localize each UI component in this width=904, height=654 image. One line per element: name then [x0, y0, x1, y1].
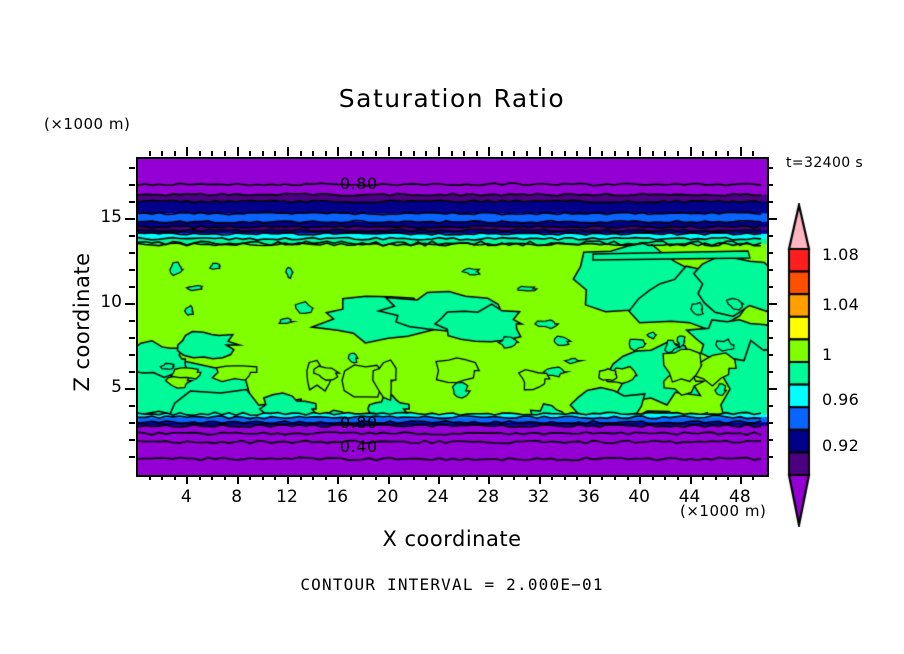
- x-major-tick-top: [740, 147, 742, 156]
- x-minor-tick-top: [727, 151, 729, 156]
- x-major-tick-top: [639, 147, 641, 156]
- y-minor-tick: [129, 405, 135, 407]
- x-minor-tick-top: [312, 151, 314, 156]
- colorbar-tick-label: 0.96: [822, 390, 859, 409]
- y-minor-tick: [129, 456, 135, 458]
- x-minor-tick-top: [715, 151, 717, 156]
- x-tick-label: 12: [257, 487, 317, 507]
- x-minor-tick-top: [752, 151, 754, 156]
- x-minor-tick-top: [614, 151, 616, 156]
- y-major-tick: [125, 303, 135, 305]
- x-major-tick-top: [438, 147, 440, 156]
- x-minor-tick-top: [350, 151, 352, 156]
- x-axis-title: X coordinate: [0, 527, 904, 551]
- x-minor-tick-top: [601, 151, 603, 156]
- contour-field-canvas: [138, 159, 767, 475]
- colorbar-tick-label: 0.92: [822, 436, 859, 455]
- y-minor-tick: [129, 286, 135, 288]
- x-tick-label: 40: [609, 487, 669, 507]
- x-minor-tick-top: [262, 151, 264, 156]
- x-minor-tick-top: [451, 151, 453, 156]
- x-major-tick-top: [287, 147, 289, 156]
- y-minor-tick: [129, 337, 135, 339]
- x-minor-tick-top: [224, 151, 226, 156]
- y-minor-tick: [129, 371, 135, 373]
- x-minor-tick-top: [362, 151, 364, 156]
- x-tick-label: 28: [458, 487, 518, 507]
- x-minor-tick-top: [425, 151, 427, 156]
- y-minor-tick: [129, 201, 135, 203]
- x-major-tick-top: [337, 147, 339, 156]
- x-minor-tick-top: [300, 151, 302, 156]
- x-tick-label: 32: [509, 487, 569, 507]
- x-minor-tick-top: [677, 151, 679, 156]
- x-tick-label: 8: [207, 487, 267, 507]
- x-minor-tick-top: [400, 151, 402, 156]
- y-axis-units-label: (×1000 m): [44, 115, 130, 133]
- x-minor-tick-top: [149, 151, 151, 156]
- contour-plot-area: [136, 157, 769, 477]
- x-minor-tick-top: [375, 151, 377, 156]
- x-minor-tick-top: [652, 151, 654, 156]
- x-minor-tick-top: [576, 151, 578, 156]
- y-major-tick: [125, 218, 135, 220]
- x-minor-tick-top: [702, 151, 704, 156]
- y-minor-tick: [129, 235, 135, 237]
- x-major-tick-top: [237, 147, 239, 156]
- x-major-tick-top: [488, 147, 490, 156]
- y-minor-tick: [129, 422, 135, 424]
- x-major-tick-top: [388, 147, 390, 156]
- x-minor-tick-top: [413, 151, 415, 156]
- page-title: Saturation Ratio: [0, 84, 904, 113]
- contour-interval-note: CONTOUR INTERVAL = 2.000E−01: [0, 575, 904, 594]
- x-minor-tick-top: [501, 151, 503, 156]
- x-minor-tick-top: [211, 151, 213, 156]
- x-minor-tick-top: [174, 151, 176, 156]
- x-major-tick-top: [589, 147, 591, 156]
- x-tick-label: 16: [307, 487, 367, 507]
- x-minor-tick-top: [564, 151, 566, 156]
- x-tick-label: 20: [358, 487, 418, 507]
- x-tick-label: 24: [408, 487, 468, 507]
- x-minor-tick-top: [526, 151, 528, 156]
- x-axis-units-label: (×1000 m): [680, 502, 766, 520]
- y-minor-tick: [129, 320, 135, 322]
- x-minor-tick-top: [463, 151, 465, 156]
- x-major-tick-top: [186, 147, 188, 156]
- colorbar: [778, 203, 820, 527]
- x-minor-tick-top: [627, 151, 629, 156]
- x-minor-tick-top: [274, 151, 276, 156]
- y-minor-tick: [129, 252, 135, 254]
- x-minor-tick-top: [199, 151, 201, 156]
- x-minor-tick-top: [325, 151, 327, 156]
- y-minor-tick: [129, 167, 135, 169]
- y-minor-tick: [129, 354, 135, 356]
- colorbar-tick-label: 1.08: [822, 245, 859, 264]
- x-tick-label: 4: [156, 487, 216, 507]
- x-major-tick-top: [539, 147, 541, 156]
- colorbar-tick-label: 1.04: [822, 295, 859, 314]
- x-tick-label: 36: [559, 487, 619, 507]
- y-major-tick: [125, 388, 135, 390]
- y-minor-tick: [129, 184, 135, 186]
- x-minor-tick-top: [161, 151, 163, 156]
- x-minor-tick-top: [249, 151, 251, 156]
- x-minor-tick-top: [664, 151, 666, 156]
- y-axis-title: Z coordinate: [70, 222, 94, 422]
- x-minor-tick-top: [513, 151, 515, 156]
- time-annotation: t=32400 s: [786, 155, 863, 171]
- x-major-tick-top: [690, 147, 692, 156]
- x-minor-tick-top: [476, 151, 478, 156]
- colorbar-tick-label: 1: [822, 345, 833, 364]
- y-minor-tick: [129, 269, 135, 271]
- y-minor-tick: [129, 439, 135, 441]
- x-minor-tick-top: [551, 151, 553, 156]
